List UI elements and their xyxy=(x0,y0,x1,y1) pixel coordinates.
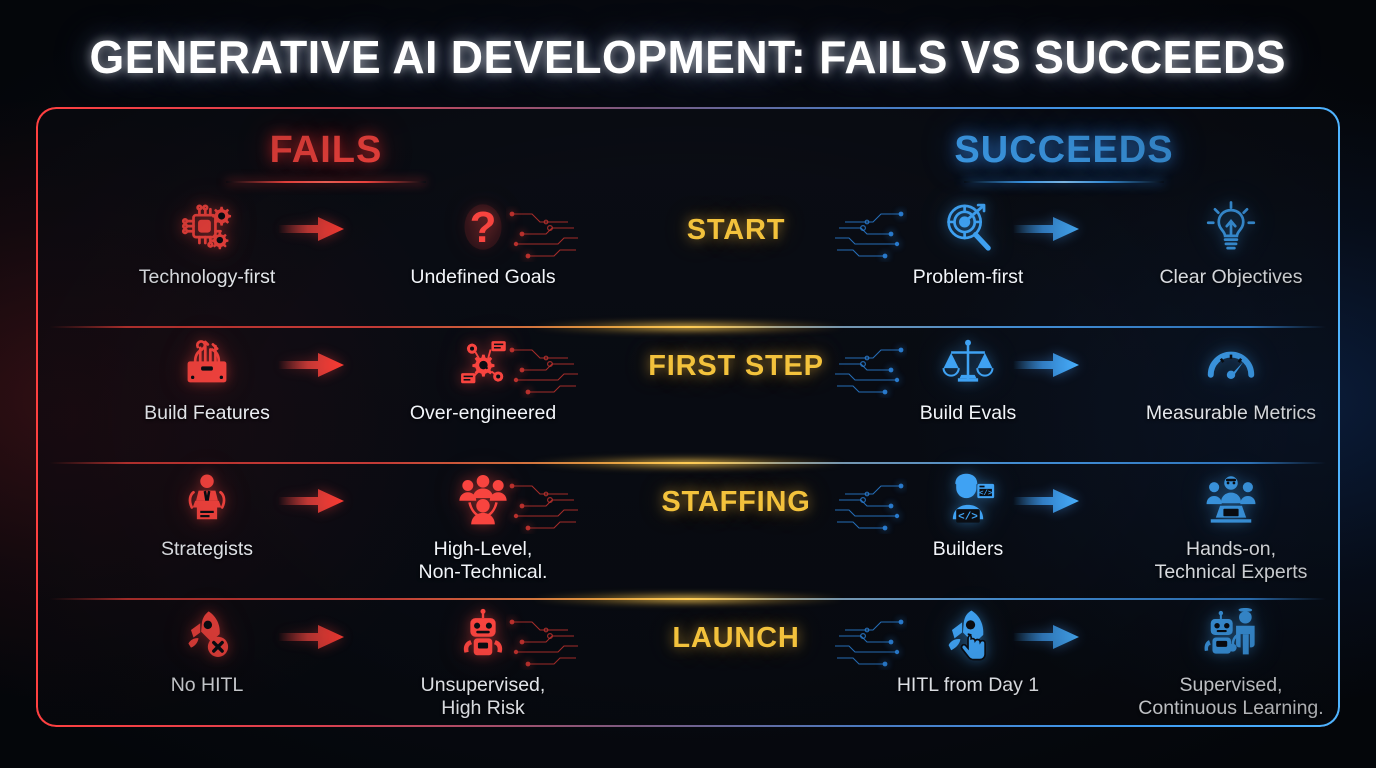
cell-caption: Build Features xyxy=(92,402,322,425)
red-arrow-icon xyxy=(276,486,346,516)
cell-caption: Hands-on,Technical Experts xyxy=(1116,538,1340,584)
red-arrow-icon xyxy=(276,622,346,652)
caption-line: High Risk xyxy=(368,697,598,720)
circuit-trace-left xyxy=(506,614,592,670)
caption-line: Over-engineered xyxy=(368,402,598,425)
lightbulb-icon xyxy=(1204,200,1258,254)
succeeds-label: SUCCEEDS xyxy=(894,129,1234,172)
fail-arrow xyxy=(276,350,346,380)
toolbox-icon xyxy=(180,336,234,390)
robot-icon xyxy=(456,608,510,662)
target-magnifier-icon xyxy=(941,200,995,254)
cell-caption: Build Evals xyxy=(853,402,1083,425)
cell-caption: High-Level,Non-Technical. xyxy=(368,538,598,584)
page-title-wrap: GENERATIVE AI DEVELOPMENT: FAILS VS SUCC… xyxy=(0,30,1376,94)
circuit-trace-icon xyxy=(506,206,592,262)
page-title: GENERATIVE AI DEVELOPMENT: FAILS VS SUCC… xyxy=(90,30,1286,84)
robot-operator-icon xyxy=(1204,608,1258,662)
caption-line: Supervised, xyxy=(1116,674,1340,697)
red-arrow-icon xyxy=(276,214,346,244)
fail-arrow xyxy=(276,486,346,516)
cell-icon-wrap xyxy=(1116,464,1340,534)
caption-line: Technology-first xyxy=(92,266,322,289)
caption-line: High-Level, xyxy=(368,538,598,561)
succeeds-underline xyxy=(964,181,1164,183)
cell-caption: Builders xyxy=(853,538,1083,561)
cell-succeed[interactable]: Supervised,Continuous Learning. xyxy=(1116,600,1340,720)
question-mark-icon xyxy=(456,200,510,254)
fails-label: FAILS xyxy=(156,129,496,172)
column-header-fails: FAILS xyxy=(156,129,496,183)
cell-caption: Technology-first xyxy=(92,266,322,289)
cell-icon-wrap xyxy=(1116,328,1340,398)
fails-underline xyxy=(226,181,426,183)
caption-line: No HITL xyxy=(92,674,322,697)
caption-line: HITL from Day 1 xyxy=(853,674,1083,697)
team-laptop-icon xyxy=(1204,472,1258,526)
gauge-icon xyxy=(1204,336,1258,390)
circuit-trace-left xyxy=(506,206,592,262)
cell-caption: Undefined Goals xyxy=(368,266,598,289)
cell-caption: Problem-first xyxy=(853,266,1083,289)
caption-line: Measurable Metrics xyxy=(1116,402,1340,425)
rocket-hand-icon xyxy=(941,608,995,662)
column-header-succeeds: SUCCEEDS xyxy=(894,129,1234,183)
comparison-panel: FAILS SUCCEEDS Technology-firstUndefined… xyxy=(36,107,1340,727)
fail-arrow xyxy=(276,622,346,652)
comparison-row: Technology-firstUndefined GoalsSTARTProb… xyxy=(36,192,1340,326)
cell-caption: Measurable Metrics xyxy=(1116,402,1340,425)
blue-arrow-icon xyxy=(1011,622,1081,652)
circuit-trace-icon xyxy=(506,478,592,534)
blue-arrow-icon xyxy=(1011,350,1081,380)
succeed-arrow xyxy=(1011,214,1081,244)
microchip-gears-icon xyxy=(180,200,234,254)
cell-caption: No HITL xyxy=(92,674,322,697)
caption-line: Strategists xyxy=(92,538,322,561)
caption-line: Build Features xyxy=(92,402,322,425)
cell-succeed[interactable]: Hands-on,Technical Experts xyxy=(1116,464,1340,584)
podium-speaker-icon xyxy=(180,472,234,526)
cell-caption: Supervised,Continuous Learning. xyxy=(1116,674,1340,720)
blue-arrow-icon xyxy=(1011,214,1081,244)
caption-line: Continuous Learning. xyxy=(1116,697,1340,720)
caption-line: Non-Technical. xyxy=(368,561,598,584)
caption-line: Clear Objectives xyxy=(1116,266,1340,289)
succeed-arrow xyxy=(1011,622,1081,652)
caption-line: Problem-first xyxy=(853,266,1083,289)
cell-caption: Strategists xyxy=(92,538,322,561)
cell-icon-wrap xyxy=(1116,192,1340,262)
caption-line: Technical Experts xyxy=(1116,561,1340,584)
caption-line: Unsupervised, xyxy=(368,674,598,697)
circuit-trace-left xyxy=(506,478,592,534)
caption-line: Builders xyxy=(853,538,1083,561)
caption-line: Undefined Goals xyxy=(368,266,598,289)
comparison-row: StrategistsHigh-Level,Non-Technical.STAF… xyxy=(36,464,1340,598)
cell-succeed[interactable]: Measurable Metrics xyxy=(1116,328,1340,425)
infographic-stage: GENERATIVE AI DEVELOPMENT: FAILS VS SUCC… xyxy=(0,0,1376,768)
cell-succeed[interactable]: Clear Objectives xyxy=(1116,192,1340,289)
caption-line: Build Evals xyxy=(853,402,1083,425)
people-group-icon xyxy=(456,472,510,526)
fail-arrow xyxy=(276,214,346,244)
cell-icon-wrap xyxy=(1116,600,1340,670)
cell-caption: HITL from Day 1 xyxy=(853,674,1083,697)
balance-scales-icon xyxy=(941,336,995,390)
blue-arrow-icon xyxy=(1011,486,1081,516)
succeed-arrow xyxy=(1011,350,1081,380)
caption-line: Hands-on, xyxy=(1116,538,1340,561)
gear-network-icon xyxy=(456,336,510,390)
succeed-arrow xyxy=(1011,486,1081,516)
circuit-trace-icon xyxy=(506,614,592,670)
comparison-row: No HITLUnsupervised,High RiskLAUNCHHITL … xyxy=(36,600,1340,727)
circuit-trace-left xyxy=(506,342,592,398)
cell-caption: Clear Objectives xyxy=(1116,266,1340,289)
rocket-cross-icon xyxy=(180,608,234,662)
red-arrow-icon xyxy=(276,350,346,380)
cell-caption: Unsupervised,High Risk xyxy=(368,674,598,720)
circuit-trace-icon xyxy=(506,342,592,398)
developer-code-icon xyxy=(941,472,995,526)
comparison-row: Build FeaturesOver-engineeredFIRST STEPB… xyxy=(36,328,1340,462)
cell-caption: Over-engineered xyxy=(368,402,598,425)
rows-container: Technology-firstUndefined GoalsSTARTProb… xyxy=(36,192,1340,727)
